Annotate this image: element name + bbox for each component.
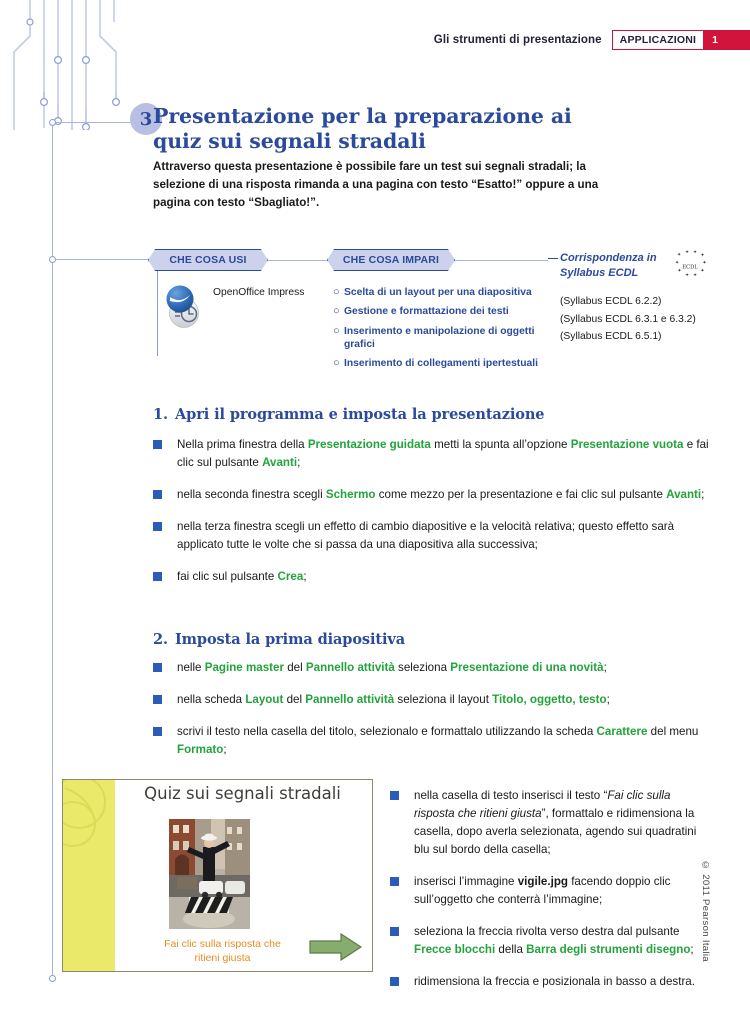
circuit-pattern-decoration [0, 0, 140, 130]
bullet-row: nella seconda finestra scegli Schermo co… [153, 486, 723, 504]
bullet-text: nella terza finestra scegli un effetto d… [177, 518, 723, 554]
square-bullet-icon [153, 522, 162, 531]
bullet-row: seleziona la freccia rivolta verso destr… [390, 923, 700, 959]
svg-text:✦: ✦ [685, 273, 689, 279]
bullet-row: nella casella di testo inserisci il test… [390, 787, 700, 859]
bullet-text: fai clic sul pulsante Crea; [177, 568, 307, 586]
right-block-arrow-icon [308, 932, 363, 962]
svg-text:✦: ✦ [702, 260, 706, 266]
learning-outcome-item: ○Inserimento di collegamenti ipertestual… [333, 357, 558, 371]
header-title: Gli strumenti di presentazione [434, 34, 612, 46]
ecdl-logo-icon: ECDL ✦✦✦ ✦✦✦ ✦✦✦ ✦ [672, 249, 708, 285]
svg-text:✦: ✦ [693, 273, 697, 279]
section-1-heading: 1.Apri il programma e imposta la present… [153, 406, 544, 423]
bullet-text: inserisci l’immagine vigile.jpg facendo … [414, 873, 700, 909]
box-connector-line [157, 271, 158, 356]
bullet-row: Nella prima finestra della Presentazione… [153, 436, 723, 472]
openoffice-impress-icon [160, 283, 206, 329]
square-bullet-icon [153, 440, 162, 449]
svg-text:ECDL: ECDL [682, 265, 698, 271]
intro-paragraph: Attraverso questa presentazione è possib… [153, 158, 613, 212]
circle-bullet-icon: ○ [333, 357, 344, 371]
section-2-heading: 2.Imposta la prima diapositiva [153, 631, 405, 648]
bullet-text: Nella prima finestra della Presentazione… [177, 436, 723, 472]
header-section-tag: APPLICAZIONI 1 [612, 30, 728, 50]
slide-yellow-band [63, 780, 115, 971]
margin-dot [49, 119, 56, 126]
bullet-text: nella casella di testo inserisci il test… [414, 787, 700, 859]
bullet-row: scrivi il testo nella casella del titolo… [153, 723, 723, 759]
page-header: Gli strumenti di presentazione APPLICAZI… [434, 30, 750, 50]
bullet-row: nella terza finestra scegli un effetto d… [153, 518, 723, 554]
software-label: OpenOffice Impress [206, 283, 304, 299]
bullet-text: nella scheda Layout del Pannello attivit… [177, 691, 610, 709]
square-bullet-icon [153, 695, 162, 704]
vigile-photo [169, 819, 250, 929]
svg-text:✦: ✦ [685, 249, 689, 255]
copyright-notice: © 2011 Pearson Italia [700, 860, 711, 962]
syllabus-ref: (Syllabus ECDL 6.5.1) [560, 328, 735, 346]
software-row: OpenOffice Impress [160, 283, 320, 329]
svg-text:✦: ✦ [675, 260, 679, 266]
bullet-text: seleziona la freccia rivolta verso destr… [414, 923, 700, 959]
learning-outcome-item: ○Gestione e formattazione dei testi [333, 305, 558, 319]
learning-outcome-item: ○Scelta di un layout per una diapositiva [333, 286, 558, 300]
bullet-row: ridimensiona la freccia e posizionala in… [390, 973, 700, 991]
correspondence-title: Corrispondenza in Syllabus ECDL [560, 251, 670, 280]
margin-connector [56, 122, 132, 123]
page-title: Presentazione per la preparazione ai qui… [153, 104, 623, 154]
bullet-text: nella seconda finestra scegli Schermo co… [177, 486, 704, 504]
svg-text:✦: ✦ [677, 268, 681, 274]
learning-outcome-item: ○Inserimento e manipolazione di oggetti … [333, 325, 558, 352]
section-1-title: Apri il programma e imposta la presentaz… [175, 406, 544, 423]
syllabus-refs-list: (Syllabus ECDL 6.2.2)(Syllabus ECDL 6.3.… [560, 293, 735, 346]
square-bullet-icon [390, 877, 399, 886]
learning-outcome-label: Inserimento di collegamenti ipertestuali [344, 357, 538, 370]
circle-bullet-icon: ○ [333, 325, 344, 339]
header-tag-number: 1 [703, 31, 727, 49]
square-bullet-icon [390, 977, 399, 986]
che-cosa-usi-box: CHE COSA USI [148, 249, 268, 271]
bullet-text: scrivi il testo nella casella del titolo… [177, 723, 723, 759]
learning-outcome-label: Gestione e formattazione dei testi [344, 305, 509, 318]
slide-title: Quiz sui segnali stradali [115, 784, 370, 803]
svg-text:✦: ✦ [693, 249, 697, 255]
square-bullet-icon [153, 727, 162, 736]
circle-bullet-icon: ○ [333, 286, 344, 300]
slide-preview: Quiz sui segnali stradali [62, 779, 373, 972]
square-bullet-icon [153, 490, 162, 499]
learning-outcome-label: Inserimento e manipolazione di oggetti g… [344, 325, 558, 352]
square-bullet-icon [390, 791, 399, 800]
bullet-row: nella scheda Layout del Pannello attivit… [153, 691, 723, 709]
square-bullet-icon [390, 927, 399, 936]
learning-outcome-label: Scelta di un layout per una diapositiva [344, 286, 532, 299]
section-2-bullets: nelle Pagine master del Pannello attivit… [153, 659, 723, 773]
svg-text:✦: ✦ [700, 252, 704, 258]
page: Gli strumenti di presentazione APPLICAZI… [0, 0, 750, 1024]
learning-outcomes-list: ○Scelta di un layout per una diapositiva… [333, 286, 558, 376]
circle-bullet-icon: ○ [333, 305, 344, 319]
che-cosa-impari-box: CHE COSA IMPARI [327, 249, 455, 271]
box-bridge-line [268, 260, 327, 261]
margin-rule [52, 122, 53, 979]
bullet-row: fai clic sul pulsante Crea; [153, 568, 723, 586]
slide-caption: Fai clic sulla risposta che ritieni gius… [155, 937, 290, 965]
bullet-text: ridimensiona la freccia e posizionala in… [414, 973, 695, 991]
section-2-bullets-right: nella casella di testo inserisci il test… [390, 787, 700, 1005]
section-1-number: 1. [153, 406, 175, 423]
header-tag-bleed [728, 30, 750, 50]
margin-dot [49, 975, 56, 982]
margin-dot [49, 256, 56, 263]
section-1-bullets: Nella prima finestra della Presentazione… [153, 436, 723, 600]
svg-text:✦: ✦ [677, 252, 681, 258]
bullet-row: inserisci l’immagine vigile.jpg facendo … [390, 873, 700, 909]
svg-text:✦: ✦ [700, 268, 704, 274]
syllabus-ref: (Syllabus ECDL 6.2.2) [560, 293, 735, 311]
correspondence-dash [548, 258, 558, 259]
section-2-title: Imposta la prima diapositiva [175, 631, 405, 648]
syllabus-ref: (Syllabus ECDL 6.3.1 e 6.3.2) [560, 311, 735, 329]
square-bullet-icon [153, 663, 162, 672]
bullet-row: nelle Pagine master del Pannello attivit… [153, 659, 723, 677]
bullet-text: nelle Pagine master del Pannello attivit… [177, 659, 607, 677]
header-tag-label: APPLICAZIONI [613, 31, 704, 49]
section-2-number: 2. [153, 631, 175, 648]
square-bullet-icon [153, 572, 162, 581]
margin-connector [56, 259, 150, 260]
box-bridge-line-right [455, 260, 548, 261]
